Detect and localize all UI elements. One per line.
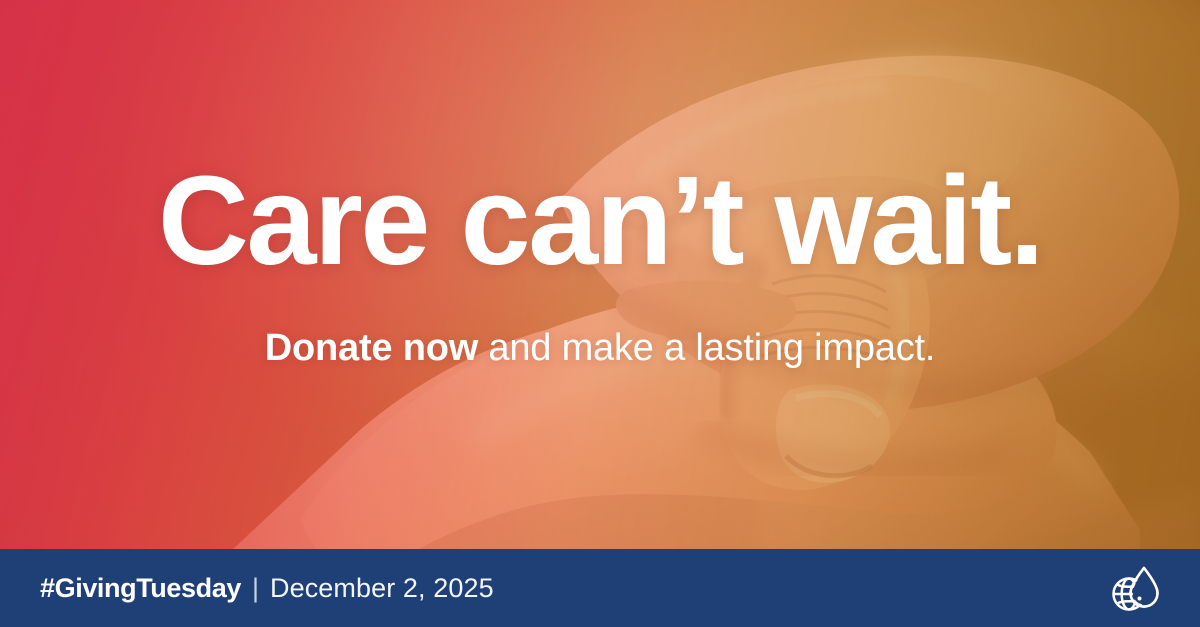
globe-waterdrop-logo-icon — [1104, 557, 1166, 619]
campaign-hashtag: #GivingTuesday — [40, 573, 241, 604]
event-date: December 2, 2025 — [270, 573, 494, 604]
footer-bar: #GivingTuesday | December 2, 2025 — [0, 549, 1200, 627]
subheadline-emphasis: Donate now — [265, 327, 478, 369]
giving-tuesday-banner: Care can’t wait. Donate now and make a l… — [0, 0, 1200, 627]
footer-separator: | — [252, 573, 259, 604]
subheadline-rest: and make a lasting impact. — [478, 327, 935, 369]
footer-campaign-info: #GivingTuesday | December 2, 2025 — [40, 573, 494, 604]
page-title: Care can’t wait. — [158, 158, 1042, 284]
banner-subheadline: Donate now and make a lasting impact. — [265, 328, 936, 370]
banner-content: Care can’t wait. Donate now and make a l… — [0, 0, 1200, 627]
